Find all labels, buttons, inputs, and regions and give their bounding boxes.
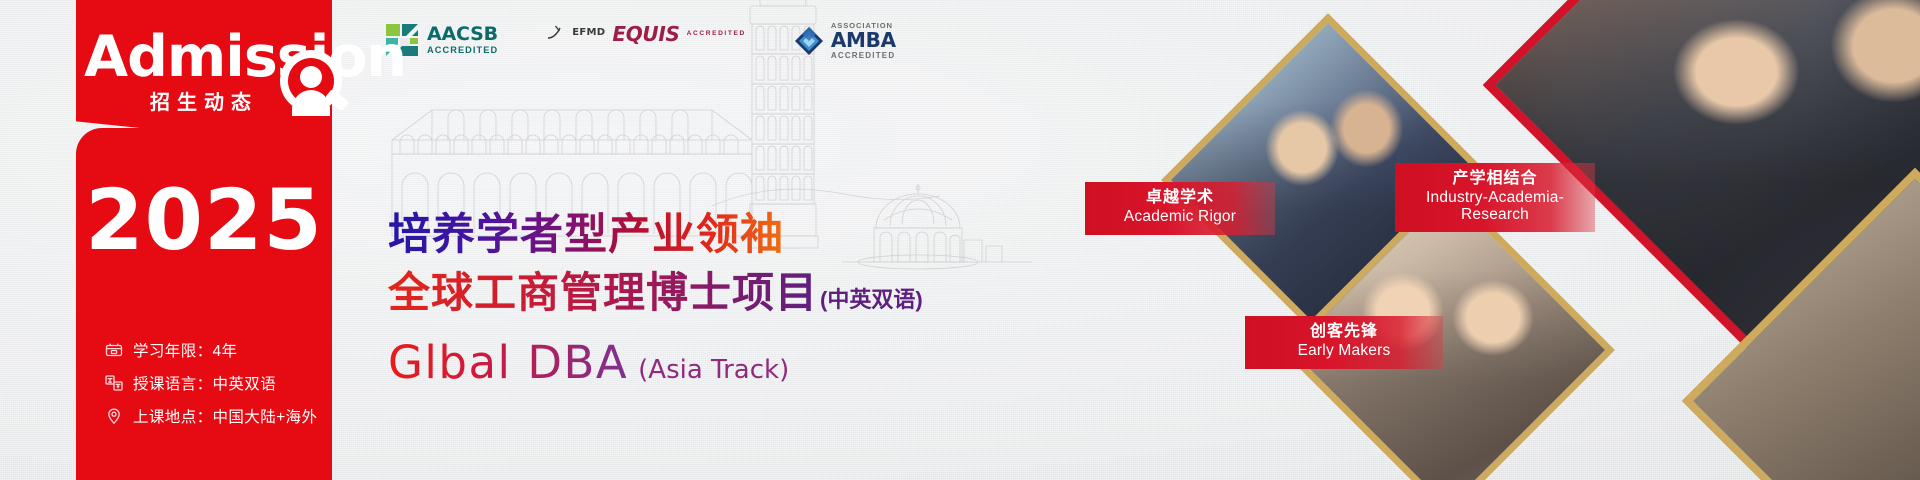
efmd-swoosh-icon bbox=[546, 25, 568, 41]
info-row-location: 上课地点：中国大陆+海外 bbox=[104, 399, 334, 432]
amba-name: AMBA bbox=[831, 30, 896, 50]
location-pin-icon bbox=[104, 406, 124, 426]
accreditation-equis: EFMD EQUIS ACCREDITED bbox=[546, 22, 746, 44]
photo-collage bbox=[1150, 0, 1920, 480]
person-head bbox=[300, 66, 322, 88]
admission-wordmark: Admission bbox=[84, 28, 406, 86]
equis-name: EQUIS bbox=[612, 24, 679, 44]
amba-diamond-icon bbox=[794, 26, 824, 56]
headline-block: 培养学者型产业领袖 全球工商管理博士项目 (中英双语) Glbal DBA (A… bbox=[388, 210, 923, 389]
person-body bbox=[292, 90, 330, 116]
info-row-language: 授课语言：中英双语 bbox=[104, 366, 334, 399]
headline-tagline: 培养学者型产业领袖 bbox=[388, 210, 923, 260]
calendar-icon bbox=[104, 340, 124, 360]
amba-sub: ACCREDITED bbox=[831, 52, 896, 60]
amba-text: ASSOCIATION AMBA ACCREDITED bbox=[831, 22, 896, 60]
admission-cn-label: 招生动态 bbox=[150, 86, 258, 115]
program-track-en: (Asia Track) bbox=[638, 355, 789, 385]
person-circle-icon bbox=[280, 50, 342, 112]
aacsb-sub: ACCREDITED bbox=[427, 46, 498, 55]
badge-academic-rigor[interactable]: 卓越学术 Academic Rigor bbox=[1085, 182, 1275, 235]
badge-label-en: Industry-Academia- Research bbox=[1411, 189, 1579, 223]
badge-label-cn: 卓越学术 bbox=[1101, 189, 1259, 208]
admission-banner: 卓越学术 Academic Rigor 产学相结合 Industry-Acade… bbox=[0, 0, 1920, 480]
aacsb-name: AACSB bbox=[427, 23, 498, 45]
admission-logo: Admission 招生动态 bbox=[84, 26, 349, 138]
info-text: 授课语言：中英双语 bbox=[133, 372, 276, 394]
badge-industry-academia[interactable]: 产学相结合 Industry-Academia- Research bbox=[1395, 163, 1595, 232]
accreditation-logos: AACSB ACCREDITED EFMD EQUIS ACCREDITED bbox=[384, 22, 896, 60]
equis-sub: ACCREDITED bbox=[687, 31, 746, 38]
accreditation-amba: ASSOCIATION AMBA ACCREDITED bbox=[794, 22, 896, 60]
aacsb-text: AACSB ACCREDITED bbox=[427, 25, 498, 55]
program-name-cn: 全球工商管理博士项目 bbox=[388, 267, 818, 319]
info-row-duration: 学习年限：4年 bbox=[104, 333, 334, 366]
info-text: 上课地点：中国大陆+海外 bbox=[133, 405, 317, 427]
info-text: 学习年限：4年 bbox=[133, 339, 237, 361]
headline-program-en: Glbal DBA (Asia Track) bbox=[388, 336, 923, 389]
badge-label-en: Academic Rigor bbox=[1101, 208, 1259, 226]
badge-label-cn: 产学相结合 bbox=[1411, 170, 1579, 189]
language-icon bbox=[104, 373, 124, 393]
efmd-label: EFMD bbox=[572, 28, 605, 38]
badge-label-en: Early Makers bbox=[1261, 342, 1427, 360]
badge-label-cn: 创客先锋 bbox=[1261, 323, 1427, 342]
year-label: 2025 bbox=[76, 178, 332, 262]
badge-early-makers[interactable]: 创客先锋 Early Makers bbox=[1245, 316, 1443, 369]
program-name-cn-suffix: (中英双语) bbox=[820, 274, 923, 326]
headline-program: 全球工商管理博士项目 (中英双语) bbox=[388, 267, 923, 326]
efmd-row: EFMD bbox=[546, 25, 605, 42]
program-info-list: 学习年限：4年 授课语言：中英双语 上课地点：中国大陆+海外 bbox=[104, 333, 334, 432]
program-name-en: Glbal DBA bbox=[388, 336, 628, 389]
